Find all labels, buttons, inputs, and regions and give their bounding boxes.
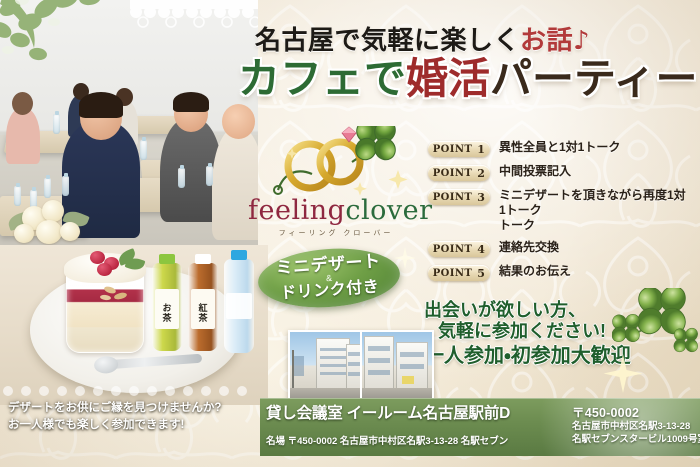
point-number-3: 3 (477, 191, 485, 204)
poster-root: お茶 紅茶 名古屋で気軽に楽しくお話♪ カフェで婚活パーティー (0, 0, 700, 467)
four-leaf-clover-icon (352, 126, 400, 164)
point-text-1: 異性全員と1対1トーク (499, 140, 692, 155)
lace-trim-bottom (0, 383, 262, 399)
badge-line-2: ドリンク付き (280, 280, 380, 304)
footer-note-line-2: お一人様でも楽しく参加できます! (8, 417, 258, 434)
points-list: POINT 1 異性全員と1対1トーク POINT 2 中間投票記入 POINT… (428, 140, 692, 288)
point-label-1: POINT (433, 144, 473, 155)
building-photo-left (290, 332, 360, 404)
point-label-4: POINT (433, 244, 473, 255)
point-row-4: POINT 4 連絡先交換 (428, 240, 692, 257)
point-text-4: 連絡先交換 (499, 240, 692, 255)
point-badge-4: POINT 4 (428, 241, 490, 257)
title-part-3: パーティー (490, 54, 697, 103)
point-badge-5: POINT 5 (428, 265, 490, 281)
page-title: カフェで婚活パーティー (238, 58, 698, 100)
footer-note: デザートをお供にご縁を見つけませんか? お一人様でも楽しく参加できます! (8, 400, 258, 433)
venue-building-photo (288, 330, 434, 406)
kicker-prefix: 名古屋で気軽に楽しく (255, 26, 520, 56)
green-tea-bottle: お茶 (152, 263, 182, 351)
point-text-3: ミニデザートを頂きながら再度1対1トーク トーク (499, 188, 692, 233)
venue-address-2: 名駅セブンスタービル1009号室 (572, 434, 698, 447)
point-row-2: POINT 2 中間投票記入 (428, 164, 692, 181)
lace-trim-decoration (130, 0, 258, 34)
point-number-1: 1 (477, 143, 485, 156)
dessert-and-drinks-photo: お茶 紅茶 (0, 245, 268, 405)
mineral-water-bottle (224, 259, 254, 353)
logo-word-feeling: feeling (248, 195, 345, 226)
black-tea-label: 紅茶 (188, 293, 218, 333)
point-row-1: POINT 1 異性全員と1対1トーク (428, 140, 692, 157)
point-text-5: 結果のお伝え (499, 264, 692, 279)
venue-postal-code: 〒450-0002 (572, 402, 698, 421)
flower-bouquet-decoration (6, 196, 94, 250)
point-number-2: 2 (477, 167, 485, 180)
point-row-3: POINT 3 ミニデザートを頂きながら再度1対1トーク トーク (428, 188, 692, 233)
point-label-5: POINT (433, 268, 473, 279)
party-room-photo (0, 0, 258, 250)
venue-name: 貸し会議室 イールーム名古屋駅前D (266, 401, 566, 423)
logo-wordmark: feelingclover (248, 195, 424, 226)
brand-logo: feelingclover フィーリング クローバー (248, 128, 424, 240)
point-label-2: POINT (433, 168, 473, 179)
point-badge-2: POINT 2 (428, 165, 490, 181)
page-kicker: 名古屋で気軽に楽しくお話♪ (255, 20, 695, 57)
venue-address-1: 名古屋市中村区名駅3-13-28 (572, 421, 698, 434)
title-part-1: カフェで (238, 54, 406, 103)
point-badge-3: POINT 3 (428, 189, 490, 205)
footer-note-line-1: デザートをお供にご縁を見つけませんか? (8, 400, 258, 417)
dessert-drink-badge: ミニデザート & ドリンク付き (256, 244, 402, 312)
logo-word-clover: clover (345, 195, 432, 226)
venue-info-bar: 貸し会議室 イールーム名古屋駅前D 名場 〒450-0002 名古屋市中村区名駅… (260, 398, 700, 456)
four-leaf-clover-decoration (612, 288, 698, 362)
point-number-4: 4 (477, 243, 485, 256)
kicker-accent: お話♪ (520, 26, 590, 56)
logo-subtitle: フィーリング クローバー (248, 228, 424, 238)
venue-address-line: 名場 〒450-0002 名古屋市中村区名駅3-13-28 名駅セブン (266, 433, 566, 447)
green-tea-label: お茶 (152, 293, 182, 333)
venue-right-block: 〒450-0002 名古屋市中村区名駅3-13-28 名駅セブンスタービル100… (572, 402, 698, 447)
point-label-3: POINT (433, 192, 473, 203)
building-photo-right (362, 332, 432, 404)
point-badge-1: POINT 1 (428, 141, 490, 157)
title-part-2: 婚活 (406, 54, 490, 103)
point-number-5: 5 (477, 267, 485, 280)
venue-left-block: 貸し会議室 イールーム名古屋駅前D 名場 〒450-0002 名古屋市中村区名駅… (266, 401, 566, 447)
point-row-5: POINT 5 結果のお伝え (428, 264, 692, 281)
black-tea-bottle: 紅茶 (188, 263, 218, 351)
point-text-2: 中間投票記入 (499, 164, 692, 179)
